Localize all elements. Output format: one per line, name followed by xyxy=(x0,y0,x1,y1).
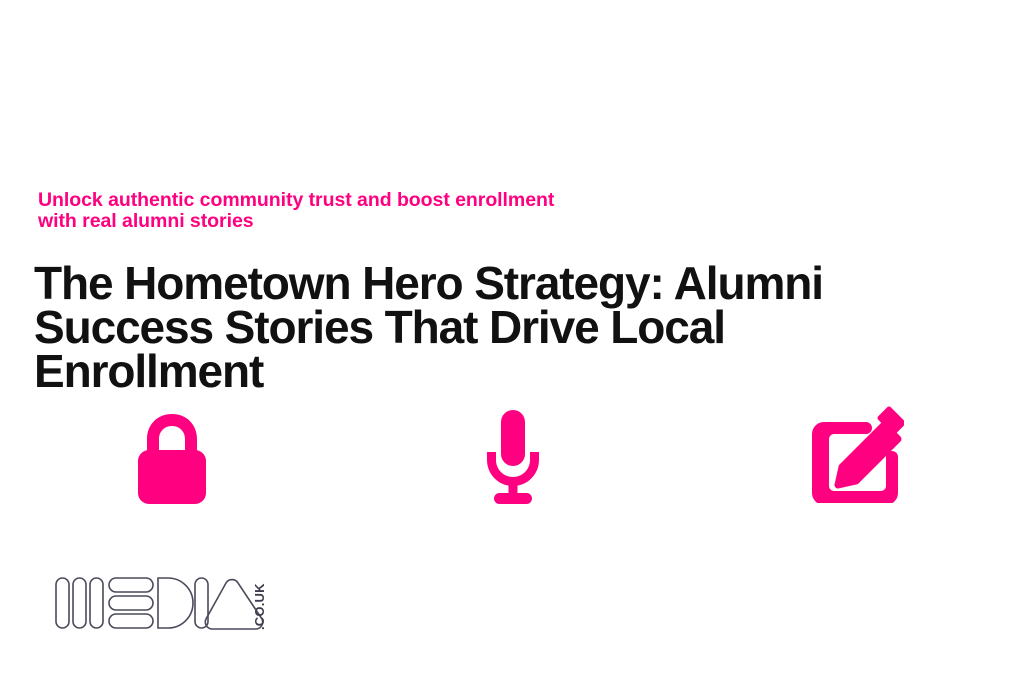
logo-tld-text: .CO.UK xyxy=(252,583,267,630)
icon-row xyxy=(0,400,1024,520)
edit-pencil-icon xyxy=(810,405,904,503)
kicker-subtitle: Unlock authentic community trust and boo… xyxy=(38,190,934,232)
lock-icon xyxy=(135,410,209,506)
title-card: Unlock authentic community trust and boo… xyxy=(0,0,1024,683)
header-text-block: Unlock authentic community trust and boo… xyxy=(34,190,934,393)
media-co-uk-logo: .CO.UK xyxy=(53,572,268,640)
microphone-icon xyxy=(481,408,545,508)
page-title: The Hometown Hero Strategy: Alumni Succe… xyxy=(34,261,844,393)
